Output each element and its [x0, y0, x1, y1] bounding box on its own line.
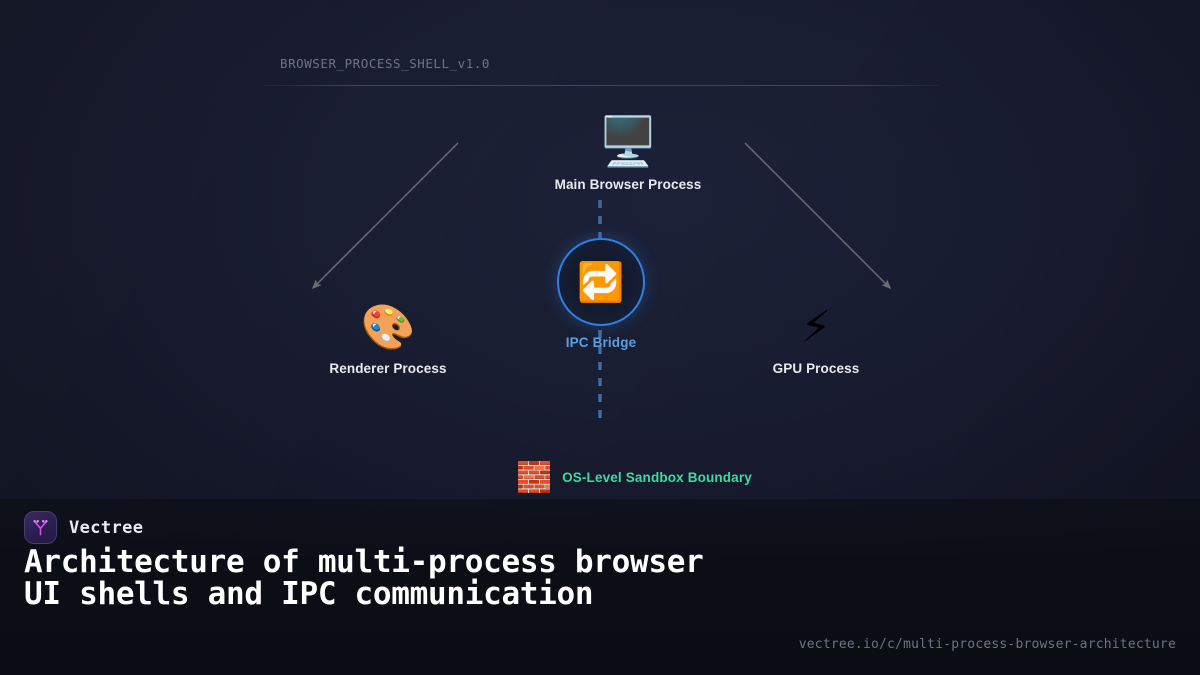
node-gpu-process-label: GPU Process: [773, 361, 860, 376]
node-main-browser-process[interactable]: 🖥️ Main Browser Process: [513, 118, 743, 192]
node-renderer-process[interactable]: 🎨 Renderer Process: [273, 306, 503, 376]
page-title: Architecture of multi-process browser UI…: [24, 547, 724, 610]
vectree-tree-logo-icon: [24, 511, 57, 544]
canvas-stage: BROWSER_PROCESS_SHELL_v1.0 🖥️ Main Brows…: [0, 0, 1200, 675]
node-ipc-bridge[interactable]: 🔁 IPC Bridge: [486, 238, 716, 350]
canvas-header-label: BROWSER_PROCESS_SHELL_v1.0: [262, 56, 939, 71]
high-voltage-icon: ⚡: [801, 306, 832, 350]
artist-palette-icon: 🎨: [361, 306, 416, 350]
connector-main-to-renderer: [313, 143, 458, 288]
brand-row[interactable]: Vectree: [24, 511, 143, 544]
footer-url[interactable]: vectree.io/c/multi-process-browser-archi…: [799, 637, 1176, 652]
node-main-browser-process-label: Main Browser Process: [555, 177, 702, 192]
footer-panel: Vectree Architecture of multi-process br…: [0, 499, 1200, 675]
brand-name: Vectree: [69, 518, 143, 538]
brick-wall-icon: 🧱: [516, 463, 552, 492]
canvas-header-divider: [262, 85, 939, 86]
connector-main-to-gpu: [745, 143, 890, 288]
ipc-bridge-label: IPC Bridge: [566, 335, 637, 350]
ipc-bridge-circle: 🔁: [557, 238, 645, 326]
sandbox-boundary-label: OS-Level Sandbox Boundary: [562, 470, 752, 485]
canvas-header: BROWSER_PROCESS_SHELL_v1.0: [262, 56, 939, 86]
node-renderer-process-label: Renderer Process: [329, 361, 446, 376]
node-gpu-process[interactable]: ⚡ GPU Process: [701, 306, 931, 376]
desktop-computer-icon: 🖥️: [598, 118, 658, 166]
exchange-arrows-icon: 🔁: [577, 263, 624, 301]
sandbox-boundary-legend: 🧱 OS-Level Sandbox Boundary: [516, 463, 752, 492]
